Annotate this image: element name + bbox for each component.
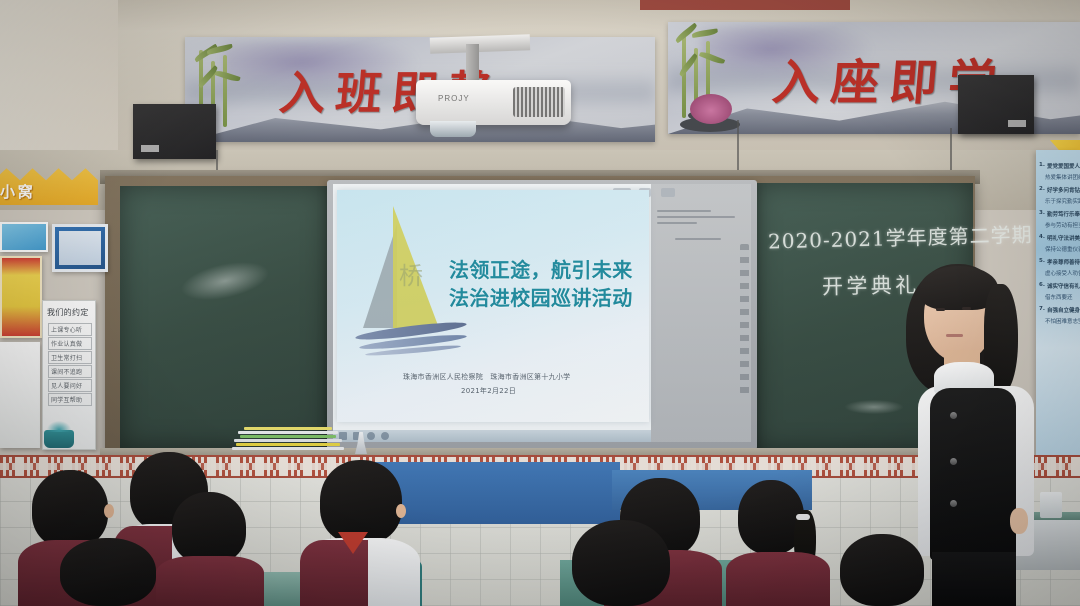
rule-number: 4. [1039, 234, 1045, 240]
rule-main: 勤劳笃行乐奉献 [1047, 210, 1080, 218]
speaker-badge [1008, 120, 1026, 127]
student-head [320, 460, 402, 544]
student-7 [560, 520, 690, 606]
student-4 [300, 460, 420, 606]
stacked-books [232, 424, 350, 450]
rule-sub: 保持公德重仪表 [1045, 245, 1080, 253]
student-head [60, 538, 156, 606]
windows-taskbar[interactable] [333, 430, 651, 442]
speaker-cable [950, 128, 952, 174]
student-8 [726, 476, 830, 606]
chalkboard-heading: 2020-2021学年度第二学期 [768, 219, 1033, 255]
rule-number: 3. [1039, 210, 1045, 216]
ceiling-red-strip [640, 0, 850, 10]
teacher-black-vest [930, 388, 1016, 560]
chart-row: 同学互帮助 [51, 395, 82, 404]
student-shoulder [300, 540, 368, 606]
vest-button [950, 412, 957, 419]
chart-row: 作业认真做 [51, 339, 82, 348]
sailboat-logo-icon: 桥 [355, 204, 459, 354]
hair-tie [796, 514, 810, 520]
classroom-photo-scene: 入班即静 入座即学 PROJY 2020 [0, 0, 1080, 606]
student-ear [396, 504, 406, 518]
rule-main: 明礼守法讲美德 [1047, 234, 1080, 242]
certificate-inner [59, 231, 101, 265]
chalkboard-left-panel [120, 186, 328, 448]
student-body [726, 552, 830, 606]
teacher-trousers [932, 552, 1016, 606]
wall-speaker-left [133, 104, 216, 159]
potted-plant [44, 430, 74, 448]
rule-main: 好学多问肯钻研 [1047, 186, 1080, 194]
vest-button [950, 500, 957, 507]
student-9 [830, 534, 940, 606]
rule-sub: 参与劳动有担当 [1045, 221, 1080, 229]
chart-row: 见人要问好 [51, 381, 82, 390]
projection-screen[interactable]: 桥 法领正途，航引未来 法治进校园巡讲活动 珠海市香洲区人民检察院 珠海市香洲区… [333, 184, 751, 442]
close-button[interactable] [661, 188, 675, 197]
vest-button [950, 458, 957, 465]
rule-main: 爱党爱国爱人民 [1047, 162, 1080, 170]
projector-vent [513, 87, 565, 117]
student-head [172, 492, 246, 564]
chart-title: 我们的约定 [47, 307, 89, 318]
student-head [840, 534, 924, 606]
rule-sub: 热爱集体讲团结 [1045, 173, 1080, 181]
wall-speaker-right [958, 75, 1034, 134]
lotus-flower-icon [690, 94, 732, 124]
teacher-eye-left [936, 308, 945, 311]
teacher-mouth [946, 334, 963, 337]
blue-poster [0, 222, 48, 252]
speaker-badge [141, 145, 159, 152]
roof-banner-text: 小窝 [0, 181, 35, 202]
certificate-poster [52, 224, 108, 272]
slide-organizations: 珠海市香洲区人民检察院 珠海市香洲区第十九小学 [403, 372, 570, 382]
chalk-smudge [177, 255, 272, 307]
presentation-slide: 桥 法领正途，航引未来 法治进校园巡讲活动 珠海市香洲区人民检察院 珠海市香洲区… [337, 190, 649, 422]
chart-row: 课间不追跑 [51, 367, 82, 376]
browser-icon[interactable] [367, 432, 375, 440]
chart-row: 上课专心听 [51, 325, 82, 334]
slide-title-line1: 法领正途，航引未来 [449, 254, 633, 283]
student-5 [52, 538, 182, 606]
search-icon[interactable] [381, 432, 389, 440]
teacher-hand [1010, 508, 1028, 534]
ppt-notes-panel[interactable] [651, 184, 751, 442]
ceiling-projector: PROJY [416, 80, 571, 125]
slide-date: 2021年2月22日 [461, 386, 516, 396]
rule-number: 2. [1039, 186, 1045, 192]
sail-back [363, 224, 397, 328]
rule-sub: 乐于探究勤实践 [1045, 197, 1080, 205]
white-poster [0, 342, 40, 448]
chart-row: 卫生常打扫 [51, 353, 82, 362]
slide-title-line2: 法治进校园巡讲活动 [449, 282, 633, 311]
red-poster [0, 256, 42, 338]
projector-brand-label: PROJY [438, 94, 470, 103]
teacher-eye-right [962, 307, 971, 310]
student-head [32, 470, 108, 548]
projector-arm [466, 44, 479, 80]
logo-character: 桥 [399, 256, 423, 291]
student-head [572, 520, 670, 606]
projector-lens [430, 121, 476, 137]
ppt-tool-strip[interactable] [740, 244, 749, 394]
rule-number: 1. [1039, 162, 1045, 168]
